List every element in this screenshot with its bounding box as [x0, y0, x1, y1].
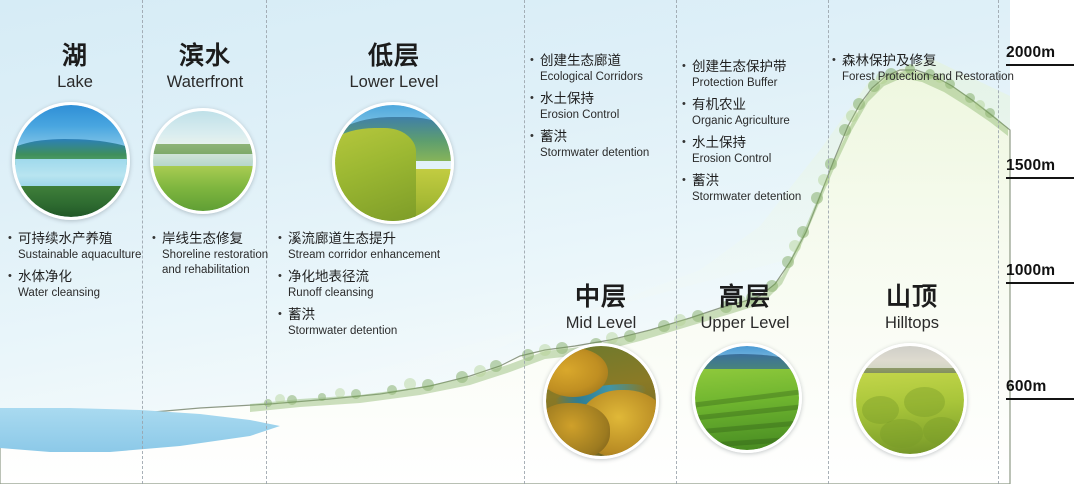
note-item: • 蓄洪 Stormwater detention [682, 172, 862, 208]
note-item: • 水土保持 Erosion Control [682, 134, 862, 170]
note-zh: 水土保持 [692, 135, 746, 150]
upper-level-photo[interactable] [692, 343, 802, 453]
bullet-icon: • [530, 52, 540, 69]
altitude-marker-1000m: 1000m [1006, 262, 1080, 284]
notes-lower-level: • 溪流廊道生态提升 Stream corridor enhancement •… [278, 230, 458, 344]
altitude-label: 1000m [1006, 262, 1080, 279]
bullet-icon: • [682, 172, 692, 189]
note-zh: 蓄洪 [692, 173, 719, 188]
lake-photo-image [15, 105, 127, 217]
altitude-rule [1006, 177, 1074, 179]
upper-level-photo-image [695, 346, 799, 450]
bullet-icon: • [8, 230, 18, 247]
lower-level-photo-image [335, 105, 451, 221]
note-item: • 有机农业 Organic Agriculture [682, 96, 862, 132]
waterfront-photo-image [153, 111, 253, 211]
note-en: Organic Agriculture [692, 114, 862, 129]
bullet-icon: • [152, 230, 162, 247]
note-en: Forest Protection and Restoration [842, 70, 1032, 85]
note-item: • 森林保护及修复 Forest Protection and Restorat… [832, 52, 1032, 88]
note-en: Water cleansing [18, 286, 188, 301]
note-zh: 水土保持 [540, 91, 594, 106]
note-item: • 溪流廊道生态提升 Stream corridor enhancement [278, 230, 458, 266]
altitude-label: 600m [1006, 378, 1080, 395]
lower-level-photo[interactable] [332, 102, 454, 224]
hilltops-photo[interactable] [853, 343, 967, 457]
bullet-icon: • [530, 90, 540, 107]
note-en: Stormwater detention [288, 324, 458, 339]
note-en: Stream corridor enhancement [288, 248, 458, 263]
note-zh: 森林保护及修复 [842, 53, 937, 68]
bullet-icon: • [278, 306, 288, 323]
bullet-icon: • [682, 58, 692, 75]
altitude-rule [1006, 64, 1074, 66]
note-zh: 创建生态保护带 [692, 59, 787, 74]
diagram-canvas: 湖 Lake 滨水 Waterfront 低层 Lower Level 中层 M… [0, 0, 1080, 484]
bullet-icon: • [8, 268, 18, 285]
note-zh: 有机农业 [692, 97, 746, 112]
note-item: • 蓄洪 Stormwater detention [278, 306, 458, 342]
bullet-icon: • [278, 268, 288, 285]
waterfront-photo[interactable] [150, 108, 256, 214]
hilltops-photo-image [856, 346, 964, 454]
note-zh: 水体净化 [18, 269, 72, 284]
bullet-icon: • [682, 96, 692, 113]
note-zh: 溪流廊道生态提升 [288, 231, 396, 246]
note-zh: 岸线生态修复 [162, 231, 243, 246]
mid-level-photo[interactable] [543, 343, 659, 459]
note-zh: 蓄洪 [288, 307, 315, 322]
note-en: Shoreline restoration and rehabilitation [162, 248, 270, 278]
lake-photo[interactable] [12, 102, 130, 220]
altitude-label: 1500m [1006, 157, 1080, 174]
note-zh: 创建生态廊道 [540, 53, 621, 68]
bullet-icon: • [682, 134, 692, 151]
note-zh: 蓄洪 [540, 129, 567, 144]
bullet-icon: • [832, 52, 842, 69]
notes-hilltops: • 森林保护及修复 Forest Protection and Restorat… [832, 52, 1032, 90]
note-en: Runoff cleansing [288, 286, 458, 301]
note-item: • 净化地表径流 Runoff cleansing [278, 268, 458, 304]
altitude-rule [1006, 398, 1074, 400]
altitude-label: 2000m [1006, 44, 1080, 61]
altitude-rule [1006, 282, 1074, 284]
bullet-icon: • [278, 230, 288, 247]
altitude-marker-600m: 600m [1006, 378, 1080, 400]
altitude-marker-2000m: 2000m [1006, 44, 1080, 66]
note-zh: 净化地表径流 [288, 269, 369, 284]
note-zh: 可持续水产养殖 [18, 231, 113, 246]
note-en: Erosion Control [692, 152, 862, 167]
note-en: Stormwater detention [692, 190, 862, 205]
bullet-icon: • [530, 128, 540, 145]
mid-level-photo-image [546, 346, 656, 456]
altitude-marker-1500m: 1500m [1006, 157, 1080, 179]
column-divider-3 [524, 0, 525, 484]
